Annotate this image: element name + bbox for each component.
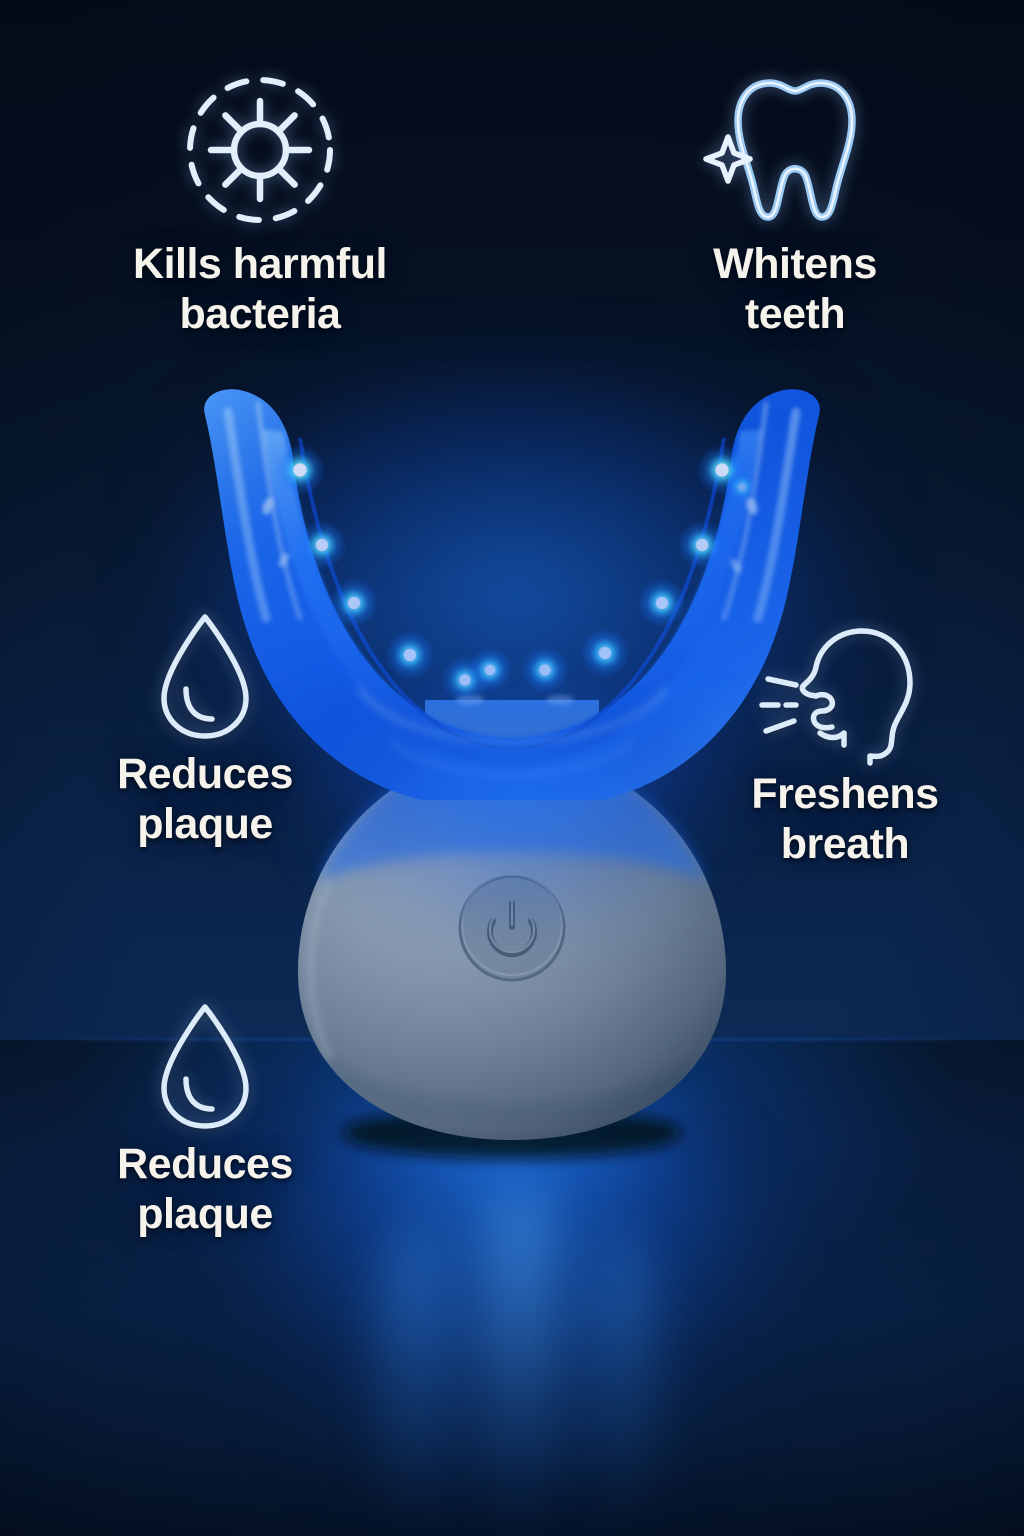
callout-reduces-plaque-upper: Reduces plaque (45, 600, 365, 850)
callout-label: Whitens teeth (620, 240, 970, 340)
icon-container (690, 620, 1000, 770)
callout-kills-bacteria: Kills harmful bacteria (50, 60, 470, 340)
icon-container (620, 60, 970, 240)
icon-container (50, 60, 470, 240)
icon-container (45, 600, 365, 750)
callout-whitens-teeth: Whitens teeth (620, 60, 970, 340)
tooth-sparkle-icon (700, 65, 890, 235)
callout-reduces-plaque-lower: Reduces plaque (45, 990, 365, 1240)
callout-label: Reduces plaque (45, 750, 365, 850)
head-breath-icon (758, 623, 933, 768)
power-button[interactable] (460, 875, 564, 980)
callout-freshens-breath: Freshens breath (690, 620, 1000, 870)
icon-container (45, 990, 365, 1140)
bacteria-germ-icon (175, 65, 345, 235)
callout-label: Freshens breath (690, 770, 1000, 870)
callout-label: Kills harmful bacteria (50, 240, 470, 340)
water-drop-icon (150, 605, 260, 745)
callout-label: Reduces plaque (45, 1140, 365, 1240)
water-drop-icon (150, 995, 260, 1135)
